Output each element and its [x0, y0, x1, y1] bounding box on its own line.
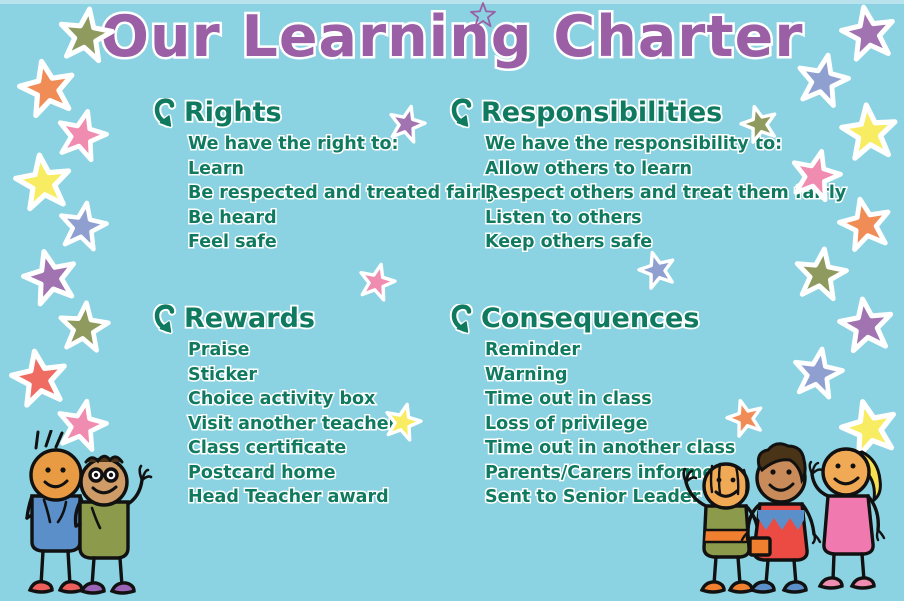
section-responsibilities-header: Responsibilities — [449, 98, 846, 132]
border-star-right-7 — [792, 346, 844, 398]
list-item: Visit another teacher — [188, 412, 397, 437]
scatter-star-5 — [726, 398, 764, 436]
child-olive-shirt — [76, 456, 152, 593]
section-rights-title: Rights — [184, 98, 282, 128]
section-rights-header: Rights — [152, 98, 498, 132]
scatter-star-0 — [388, 104, 426, 142]
section-rewards-title: Rewards — [184, 304, 315, 334]
stick-figure-group-left — [8, 430, 168, 601]
curved-arrow-icon — [152, 304, 178, 338]
border-star-right-5 — [794, 246, 848, 300]
section-rewards-list: Praise Sticker Choice activity box Visit… — [188, 338, 397, 510]
curved-arrow-icon — [449, 98, 475, 132]
section-rights: Rights We have the right to: Learn Be re… — [152, 98, 498, 255]
list-item: Listen to others — [485, 206, 846, 231]
border-star-right-4 — [838, 196, 892, 250]
border-star-left-5 — [22, 248, 78, 304]
curved-arrow-icon — [449, 304, 475, 338]
scatter-star-1 — [740, 104, 778, 142]
section-rewards: Rewards Praise Sticker Choice activity b… — [152, 304, 397, 510]
border-star-left-6 — [58, 300, 110, 352]
border-star-right-3 — [790, 148, 842, 200]
list-item: Sticker — [188, 363, 397, 388]
list-item: Postcard home — [188, 461, 397, 486]
title-star-icon — [470, 2, 496, 28]
list-item: Head Teacher award — [188, 485, 397, 510]
section-consequences-header: Consequences — [449, 304, 735, 338]
border-star-right-1 — [796, 52, 850, 106]
list-item: Class certificate — [188, 436, 397, 461]
border-star-right-6 — [838, 296, 894, 352]
section-consequences-title: Consequences — [481, 304, 699, 334]
list-item: Choice activity box — [188, 387, 397, 412]
scatter-star-4 — [384, 402, 422, 440]
section-responsibilities: Responsibilities We have the responsibil… — [449, 98, 846, 255]
child-pink-dress — [810, 449, 884, 588]
list-item: Time out in class — [485, 387, 735, 412]
scatter-star-2 — [358, 262, 396, 300]
list-item: Reminder — [485, 338, 735, 363]
child-olive-striped-dress — [684, 464, 764, 592]
section-responsibilities-title: Responsibilities — [481, 98, 722, 128]
border-star-right-2 — [840, 102, 898, 160]
list-item: Praise — [188, 338, 397, 363]
page-title: Our Learning Charter — [0, 4, 904, 70]
list-item: Warning — [485, 363, 735, 388]
scatter-star-3 — [638, 250, 676, 288]
learning-charter-poster: Our Learning Charter Rights We have t — [0, 0, 904, 601]
curved-arrow-icon — [152, 98, 178, 132]
stick-figure-group-right — [676, 432, 904, 601]
section-rewards-header: Rewards — [152, 304, 397, 338]
